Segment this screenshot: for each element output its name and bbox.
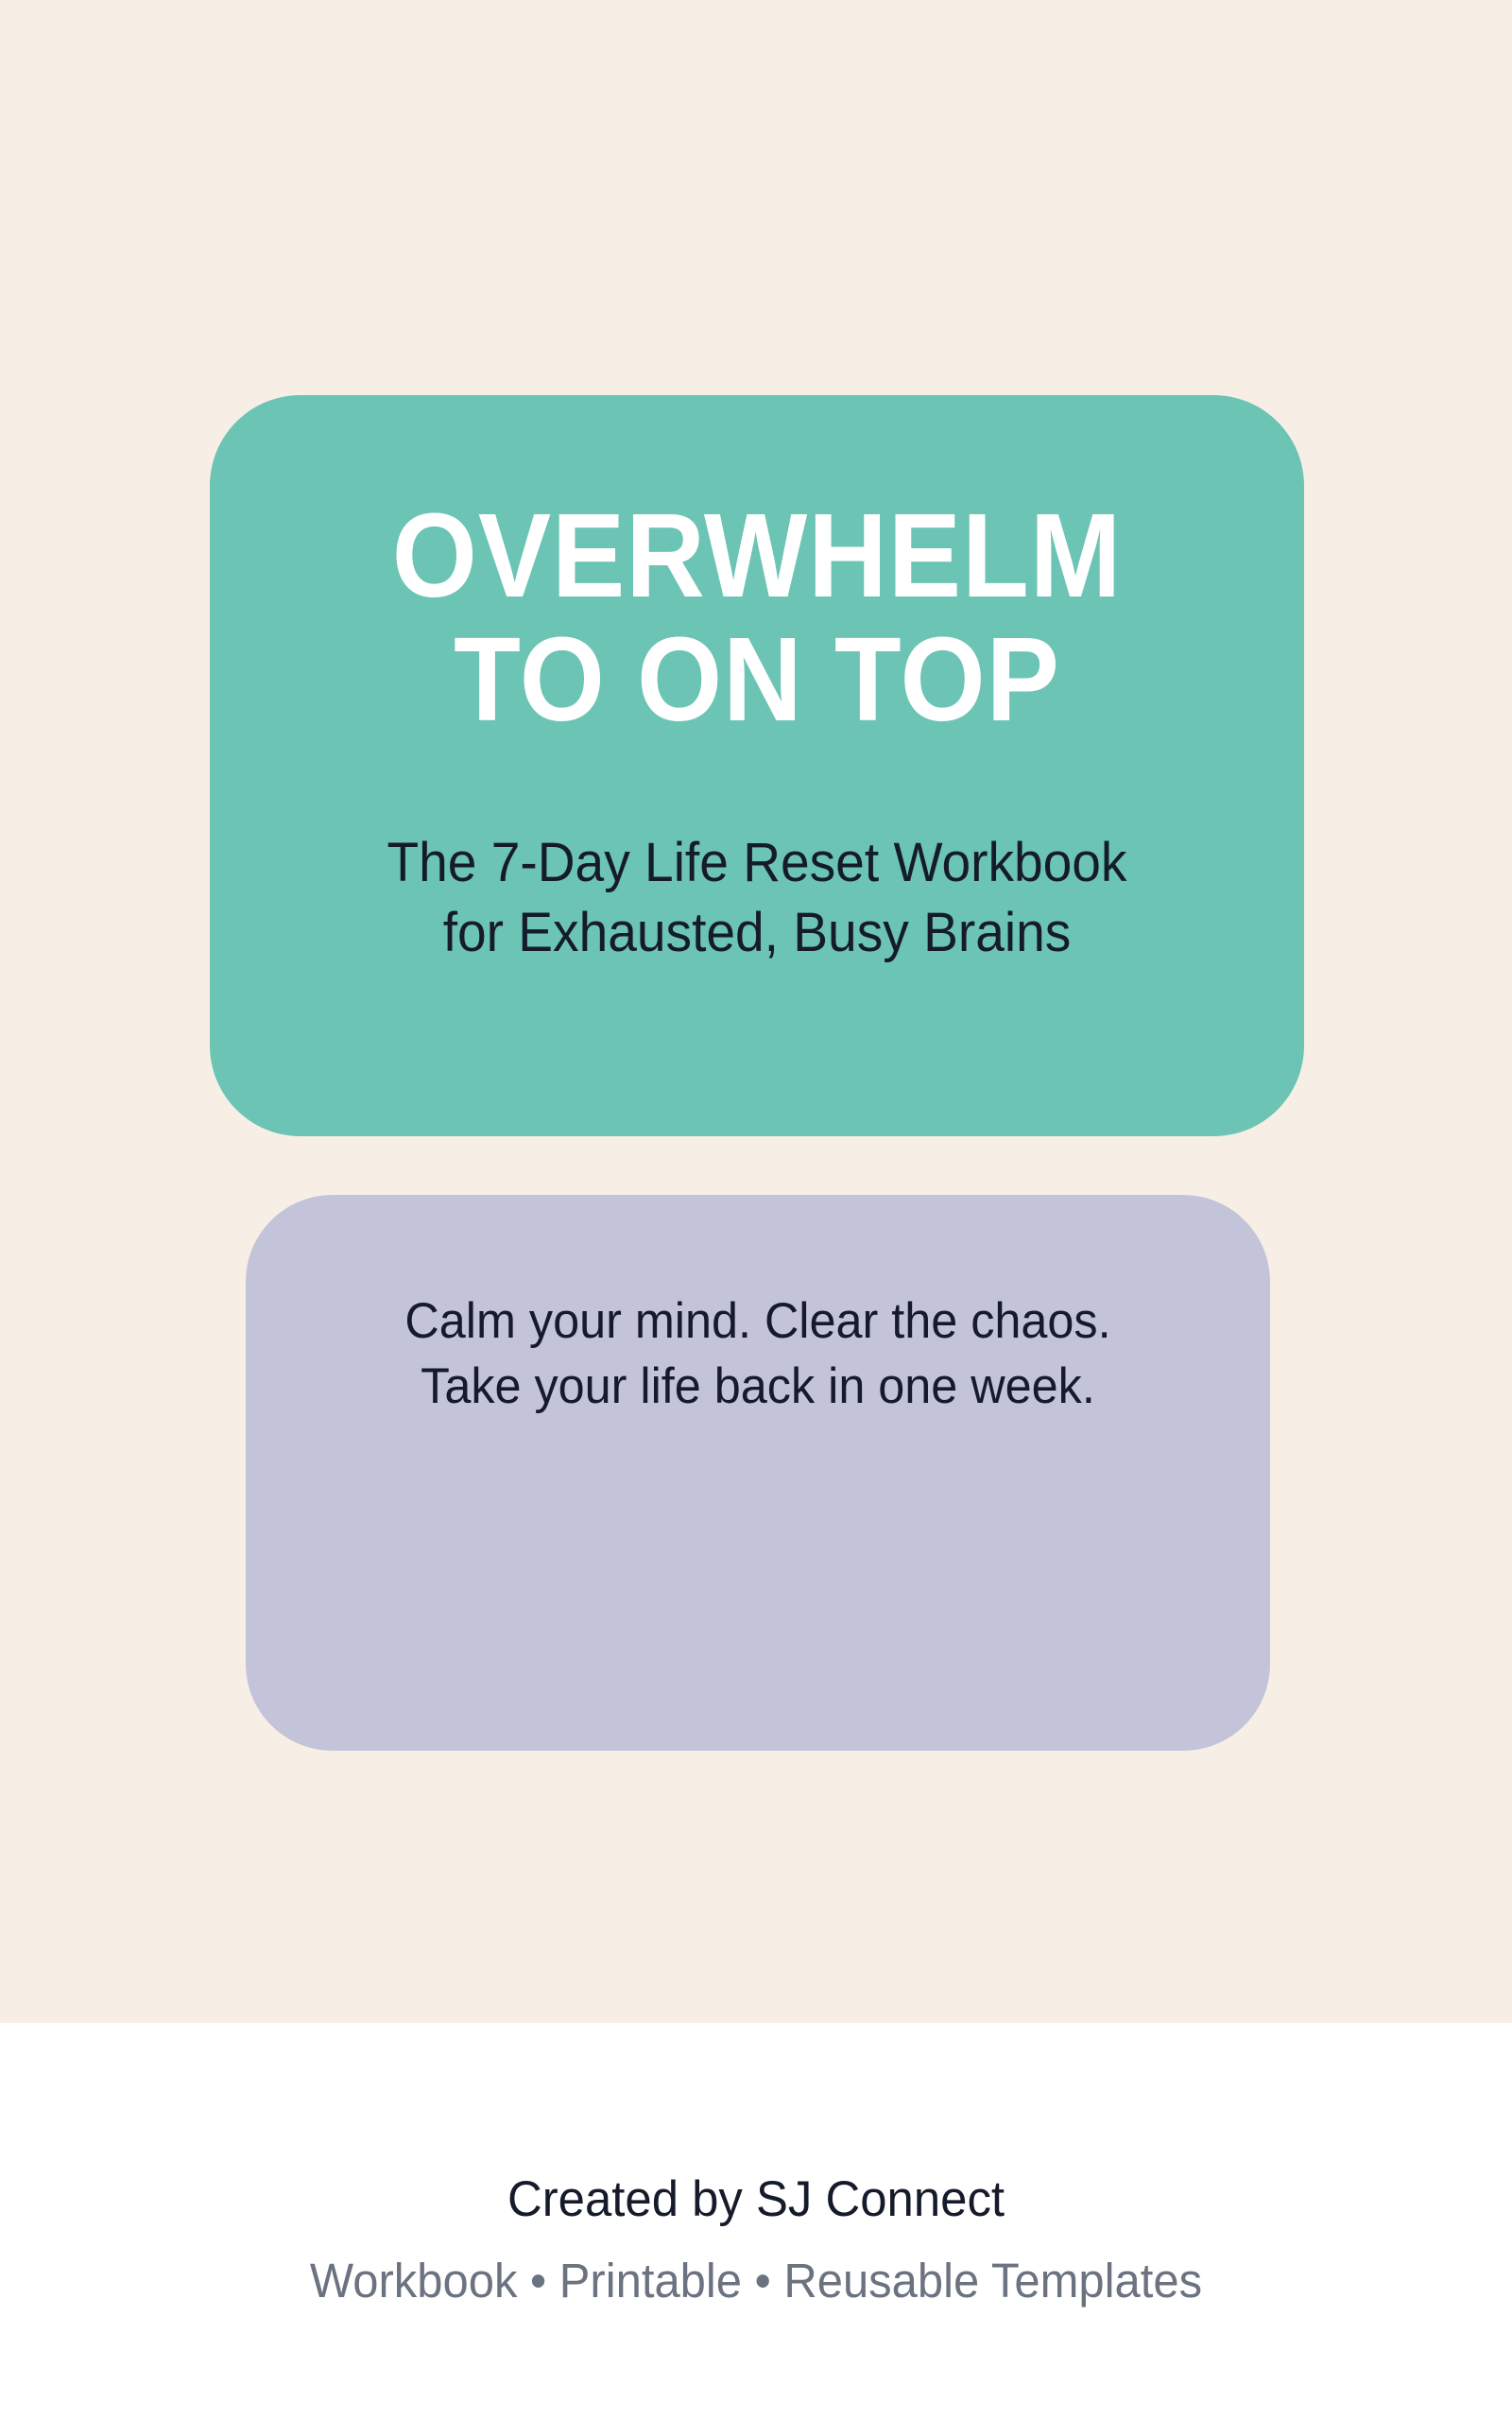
title-line-1: OVERWHELM: [253, 493, 1260, 617]
title-card: OVERWHELM TO ON TOP The 7-Day Life Reset…: [210, 395, 1304, 1136]
footer: Created by SJ Connect Workbook • Printab…: [0, 2174, 1512, 2305]
page-title: OVERWHELM TO ON TOP: [210, 493, 1304, 741]
page-subtitle: The 7-Day Life Reset Workbook for Exhaus…: [248, 828, 1266, 968]
promise-text: Calm your mind. Clear the chaos. Take yo…: [283, 1289, 1232, 1420]
book-cover: OVERWHELM TO ON TOP The 7-Day Life Reset…: [0, 0, 1512, 2420]
subtitle-line-1: The 7-Day Life Reset Workbook: [273, 828, 1241, 898]
footer-features: Workbook • Printable • Reusable Template…: [30, 2256, 1482, 2305]
title-line-2: TO ON TOP: [253, 617, 1260, 741]
promise-card: Calm your mind. Clear the chaos. Take yo…: [246, 1195, 1270, 1751]
footer-credit: Created by SJ Connect: [30, 2174, 1482, 2224]
promise-line-2: Take your life back in one week.: [307, 1355, 1209, 1420]
subtitle-line-2: for Exhausted, Busy Brains: [273, 898, 1241, 968]
promise-line-1: Calm your mind. Clear the chaos.: [307, 1289, 1209, 1355]
